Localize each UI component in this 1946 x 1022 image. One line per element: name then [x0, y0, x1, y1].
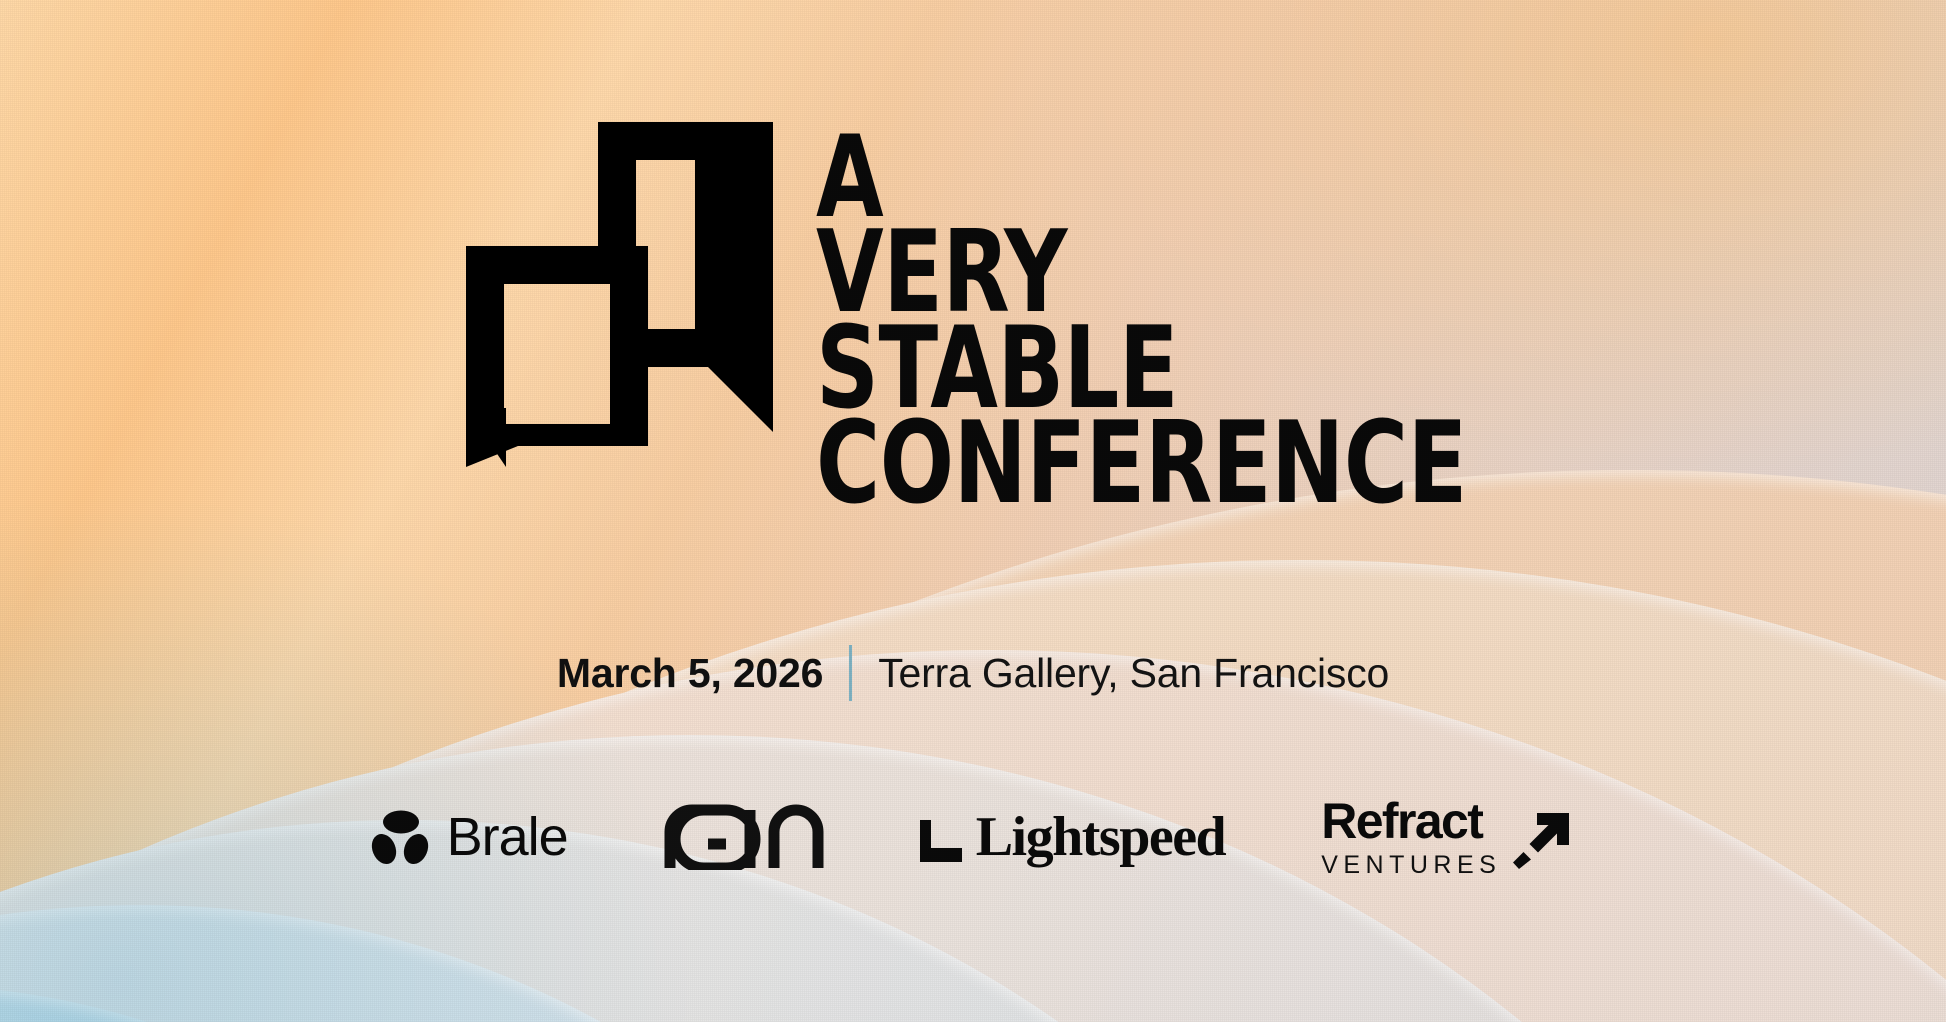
sponsor-refract: Refract VENTURES	[1321, 800, 1575, 874]
sponsor-refract-text: Refract VENTURES	[1321, 796, 1501, 878]
sponsor-row: Brale	[0, 800, 1946, 874]
arrow-up-right-icon	[1511, 805, 1575, 869]
rain-wordmark-icon	[664, 804, 824, 870]
sponsor-lightspeed-label: Lightspeed	[976, 805, 1226, 869]
sponsor-rain	[664, 800, 824, 874]
three-ellipse-cluster-icon	[371, 808, 431, 866]
sponsor-brale-label: Brale	[447, 806, 568, 868]
sponsor-refract-label: Refract	[1321, 796, 1482, 846]
masthead: A VERY STABLE CONFERENCE	[462, 128, 1573, 512]
corner-bracket-icon	[920, 816, 962, 862]
event-details-row: March 5, 2026 Terra Gallery, San Francis…	[0, 645, 1946, 701]
details-divider	[849, 645, 852, 701]
sponsor-lightspeed: Lightspeed	[920, 800, 1226, 874]
title-line-4: CONFERENCE	[816, 416, 1467, 511]
two-speech-bubbles-mark-icon	[462, 122, 782, 467]
event-banner: A VERY STABLE CONFERENCE March 5, 2026 T…	[0, 0, 1946, 1022]
wordmark: A VERY STABLE CONFERENCE	[816, 130, 1573, 512]
sponsor-refract-sublabel: VENTURES	[1321, 853, 1501, 878]
banner-content: A VERY STABLE CONFERENCE March 5, 2026 T…	[0, 0, 1946, 1022]
event-date: March 5, 2026	[557, 650, 823, 697]
event-venue: Terra Gallery, San Francisco	[878, 650, 1389, 697]
sponsor-brale: Brale	[371, 800, 568, 874]
